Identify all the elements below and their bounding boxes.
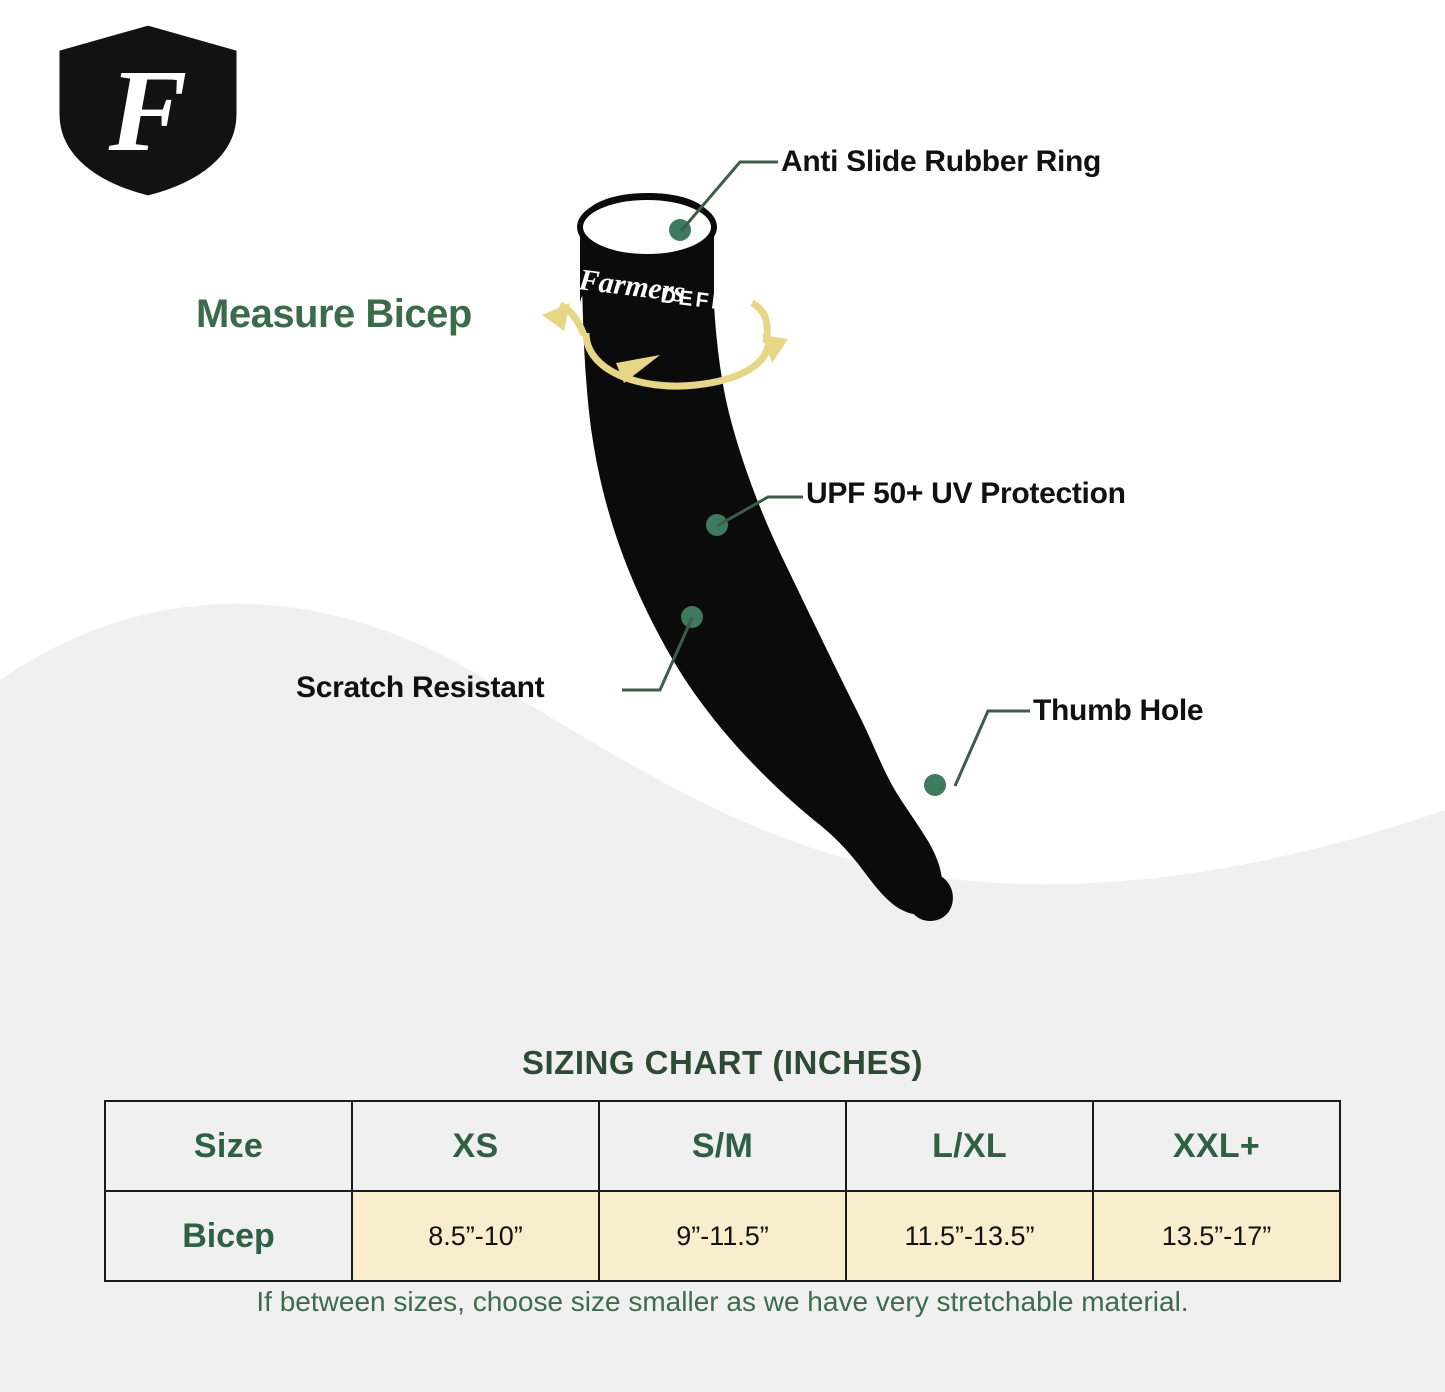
sizing-chart-note: If between sizes, choose size smaller as… [0, 1286, 1445, 1318]
table-cell-bicep-lxl: 11.5”-13.5” [846, 1191, 1093, 1281]
table-header-size: Size [105, 1101, 352, 1191]
table-row: Bicep 8.5”-10” 9”-11.5” 11.5”-13.5” 13.5… [105, 1191, 1340, 1281]
marker-dot-thumb [924, 774, 946, 796]
logo-letter: F [108, 45, 188, 176]
table-header-xxl: XXL+ [1093, 1101, 1340, 1191]
callout-anti-slide-rubber-ring: Anti Slide Rubber Ring [781, 145, 1101, 179]
measure-bicep-label: Measure Bicep [196, 292, 472, 337]
sizing-chart-title: SIZING CHART (INCHES) [0, 1044, 1445, 1082]
table-header-lxl: L/XL [846, 1101, 1093, 1191]
product-infographic: F Farmers DEFENSE [0, 0, 1445, 1392]
sleeve-cuff-opening [580, 197, 714, 257]
arm-sleeve-illustration: Farmers DEFENSE [520, 185, 1060, 945]
marker-dot-scratch [681, 606, 703, 628]
table-cell-bicep-xs: 8.5”-10” [352, 1191, 599, 1281]
callout-scratch-resistant: Scratch Resistant [296, 671, 544, 705]
table-cell-bicep-xxl: 13.5”-17” [1093, 1191, 1340, 1281]
brand-logo: F [48, 18, 248, 203]
marker-dot-anti-slide [669, 219, 691, 241]
table-header-xs: XS [352, 1101, 599, 1191]
table-header-row: Size XS S/M L/XL XXL+ [105, 1101, 1340, 1191]
callout-upf-protection: UPF 50+ UV Protection [806, 477, 1126, 511]
table-cell-bicep-sm: 9”-11.5” [599, 1191, 846, 1281]
marker-dot-upf [706, 514, 728, 536]
table-row-label-bicep: Bicep [105, 1191, 352, 1281]
sizing-chart-table: Size XS S/M L/XL XXL+ Bicep 8.5”-10” 9”-… [104, 1100, 1341, 1282]
table-header-sm: S/M [599, 1101, 846, 1191]
callout-thumb-hole: Thumb Hole [1033, 694, 1203, 728]
